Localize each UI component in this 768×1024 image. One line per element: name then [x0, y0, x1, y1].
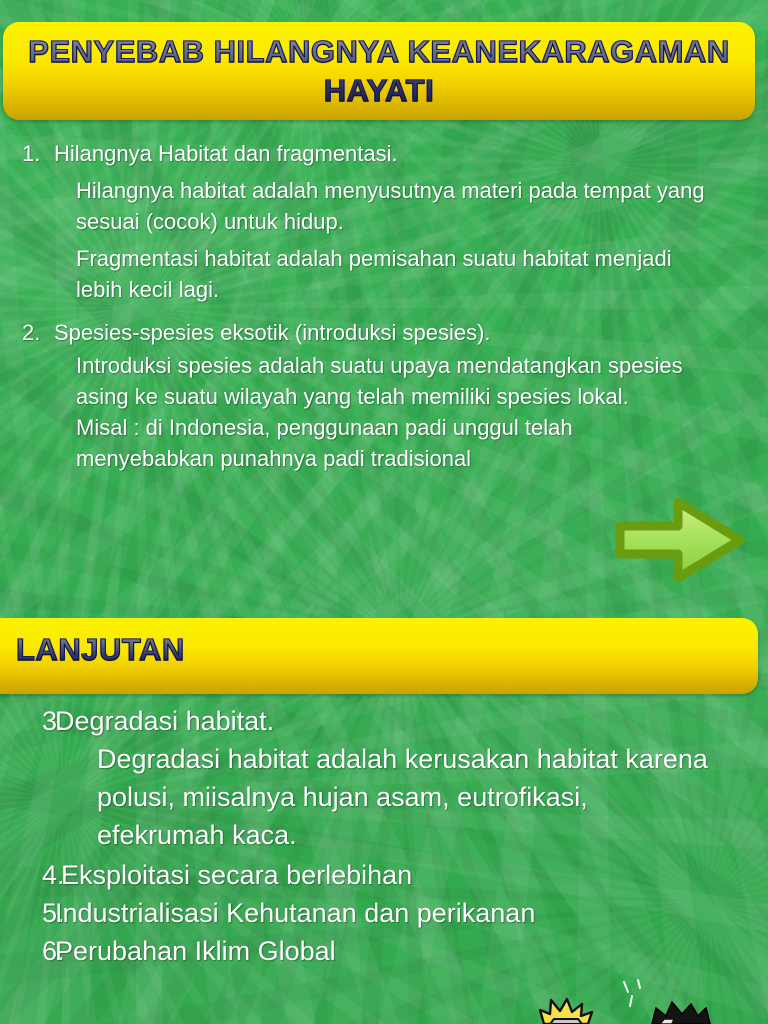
- list-item-6: 6. Perubahan Iklim Global: [0, 932, 768, 970]
- list-item-4: 4. Eksploitasi secara berlebihan: [0, 856, 768, 894]
- list-number-4: 4.: [0, 856, 55, 894]
- list-heading-6: Perubahan Iklim Global: [55, 932, 336, 970]
- top-content-list: 1. Hilangnya Habitat dan fragmentasi. Hi…: [0, 138, 768, 474]
- list-item-2: 2. Spesies-spesies eksotik (introduksi s…: [0, 317, 768, 348]
- list-number-6: 6.: [0, 932, 55, 970]
- dark-hair-character: [652, 1002, 710, 1024]
- list-number-1: 1.: [0, 138, 54, 169]
- spiky-hair-character: [540, 999, 592, 1024]
- bottom-content-list: 3. Degradasi habitat. Degradasi habitat …: [0, 702, 768, 970]
- slide-canvas: PENYEBAB HILANGNYA KEANEKARAGAMAN HAYATI…: [0, 0, 768, 1024]
- list-paragraph-1b: Fragmentasi habitat adalah pemisahan sua…: [76, 243, 716, 305]
- list-heading-5: Industrialisasi Kehutanan dan perikanan: [55, 894, 535, 932]
- list-paragraph-2a: Introduksi spesies adalah suatu upaya me…: [76, 350, 716, 412]
- list-heading-4: Eksploitasi secara berlebihan: [55, 856, 412, 894]
- list-paragraph-1a: Hilangnya habitat adalah menyusutnya mat…: [76, 175, 716, 237]
- list-item-3: 3. Degradasi habitat.: [0, 702, 768, 740]
- sparkle-marks: [624, 980, 640, 1006]
- list-paragraph-2b: Misal : di Indonesia, penggunaan padi un…: [76, 412, 716, 474]
- right-arrow-icon: [612, 492, 752, 588]
- page-title: PENYEBAB HILANGNYA KEANEKARAGAMAN HAYATI: [3, 22, 755, 120]
- lanjutan-title: LANJUTAN: [16, 630, 185, 670]
- list-item-1: 1. Hilangnya Habitat dan fragmentasi.: [0, 138, 768, 169]
- list-number-2: 2.: [0, 317, 54, 348]
- list-number-3: 3.: [0, 702, 55, 740]
- list-number-5: 5.: [0, 894, 55, 932]
- list-heading-1: Hilangnya Habitat dan fragmentasi.: [54, 138, 398, 169]
- list-heading-3: Degradasi habitat.: [55, 702, 274, 740]
- cartoon-characters-clipart: [520, 978, 740, 1024]
- list-paragraph-3a: Degradasi habitat adalah kerusakan habit…: [97, 740, 717, 854]
- list-heading-2: Spesies-spesies eksotik (introduksi spes…: [54, 317, 491, 348]
- list-item-5: 5. Industrialisasi Kehutanan dan perikan…: [0, 894, 768, 932]
